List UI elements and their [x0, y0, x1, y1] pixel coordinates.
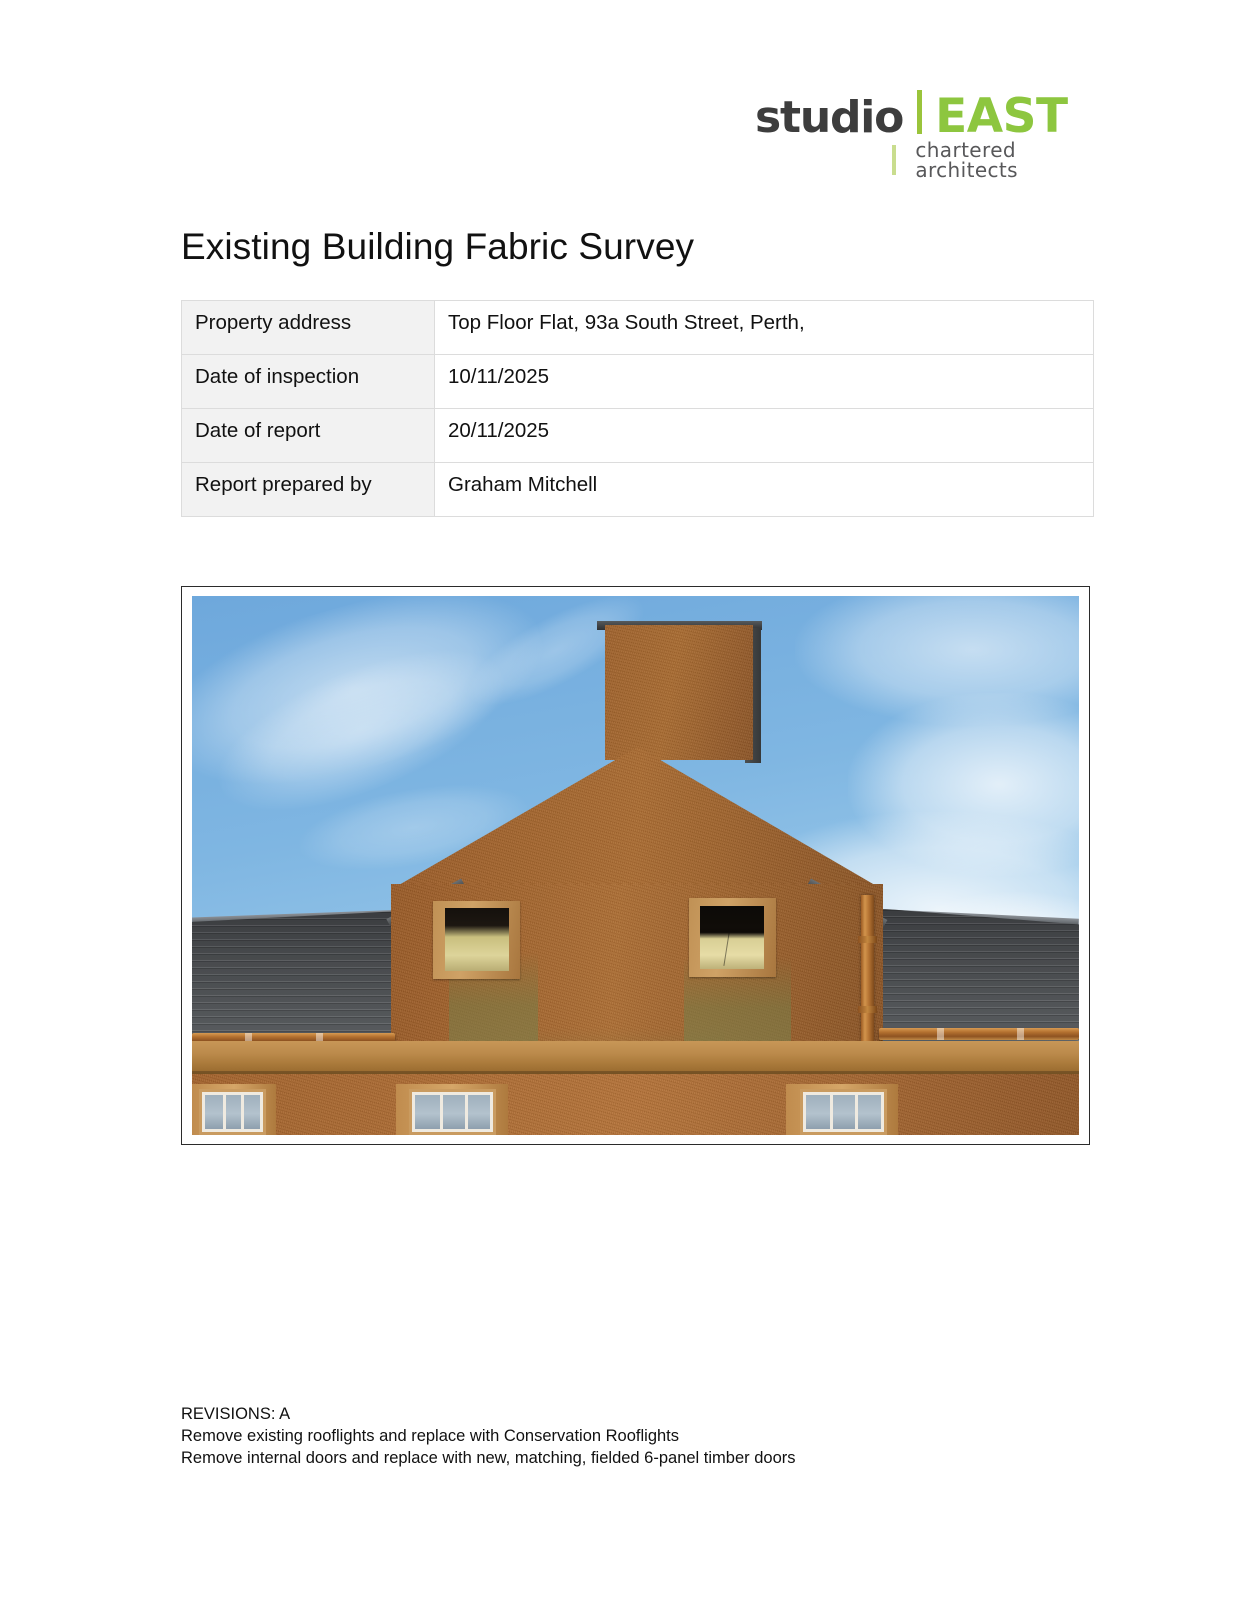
gable-apex [391, 747, 883, 890]
logo-wordmark: studio EAST [755, 88, 1100, 138]
window-opening-left [433, 901, 520, 980]
page-title: Existing Building Fabric Survey [181, 226, 694, 268]
sash-window-panes-1 [202, 1092, 263, 1132]
revision-item-1: Remove existing rooflights and replace w… [181, 1425, 796, 1447]
sash-window-panes-2 [412, 1092, 493, 1132]
window-glass-right [700, 906, 764, 969]
stone-string-course [192, 1041, 1079, 1074]
cloud-icon [795, 596, 1079, 725]
logo-tagline: chartered architects [915, 140, 1100, 180]
glass-crack-icon [723, 933, 729, 965]
studio-east-logo: studio EAST chartered architects [755, 88, 1100, 178]
cloud-icon [848, 693, 1079, 876]
chimney-stack [605, 625, 752, 760]
cloud-icon [192, 596, 562, 819]
row-label-date-of-inspection: Date of inspection [182, 355, 435, 409]
table-row: Date of report 20/11/2025 [182, 409, 1094, 463]
revision-item-2: Remove internal doors and replace with n… [181, 1447, 796, 1469]
logo-word-east: EAST [935, 93, 1067, 140]
gutter-joint-right-a [937, 1028, 944, 1039]
row-value-report-prepared-by: Graham Mitchell [435, 463, 1094, 517]
revisions-heading: REVISIONS: A [181, 1403, 796, 1425]
window-opening-right [689, 898, 776, 977]
downpipe-collar-lower [858, 1006, 877, 1014]
sash-window-2 [409, 1089, 496, 1135]
slate-roof-left [192, 911, 394, 1043]
revisions-block: REVISIONS: A Remove existing rooflights … [181, 1403, 796, 1469]
sash-window-panes-3 [803, 1092, 884, 1132]
logo-word-studio: studio [755, 96, 903, 140]
property-info-table: Property address Top Floor Flat, 93a Sou… [181, 300, 1094, 517]
lower-harled-wall [192, 1074, 1079, 1135]
row-label-date-of-report: Date of report [182, 409, 435, 463]
building-gable-photograph [192, 596, 1079, 1135]
row-value-date-of-report: 20/11/2025 [435, 409, 1094, 463]
slate-roof-right [880, 909, 1079, 1041]
survey-photograph-frame [181, 586, 1090, 1145]
logo-tagline-divider-icon [892, 145, 896, 175]
sash-window-1 [199, 1089, 266, 1135]
downpipe-collar-upper [858, 936, 877, 944]
sash-window-3 [800, 1089, 887, 1135]
row-value-property-address: Top Floor Flat, 93a South Street, Perth, [435, 301, 1094, 355]
logo-divider-icon [917, 90, 922, 134]
table-row: Report prepared by Graham Mitchell [182, 463, 1094, 517]
table-row: Date of inspection 10/11/2025 [182, 355, 1094, 409]
row-label-report-prepared-by: Report prepared by [182, 463, 435, 517]
cloud-icon [199, 619, 523, 842]
row-value-date-of-inspection: 10/11/2025 [435, 355, 1094, 409]
logo-tagline-row: chartered architects [755, 144, 1100, 176]
table-row: Property address Top Floor Flat, 93a Sou… [182, 301, 1094, 355]
gutter-right [879, 1028, 1079, 1039]
gutter-joint-right-b [1017, 1028, 1024, 1039]
window-glass-left [445, 908, 509, 971]
row-label-property-address: Property address [182, 301, 435, 355]
